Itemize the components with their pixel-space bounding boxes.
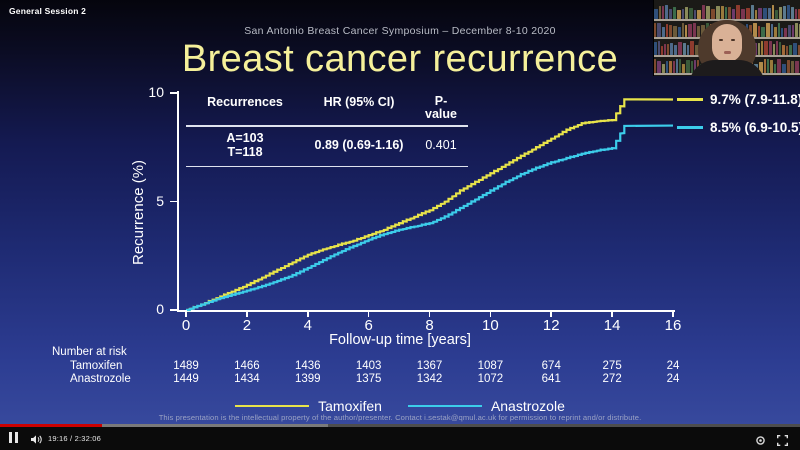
- presenter-webcam-feed[interactable]: [653, 0, 800, 76]
- y-tick-label-10: 10: [134, 84, 164, 100]
- risk-value: 275: [586, 360, 638, 372]
- book: [755, 10, 757, 19]
- risk-value: 272: [586, 373, 638, 385]
- risk-value: 24: [647, 360, 699, 372]
- risk-label-tamoxifen: Tamoxifen: [70, 360, 122, 372]
- book: [781, 28, 783, 37]
- book: [666, 61, 668, 73]
- book: [654, 42, 657, 55]
- book: [725, 7, 727, 19]
- x-tick-8: [429, 310, 431, 317]
- y-tick-label-0: 0: [134, 301, 164, 317]
- book: [683, 43, 686, 55]
- book: [682, 9, 684, 19]
- pause-icon[interactable]: [9, 432, 18, 443]
- anastrozole-legend-swatch: [408, 405, 482, 407]
- book: [795, 61, 799, 73]
- x-tick-0: [185, 310, 187, 317]
- progress-bar-track[interactable]: [0, 424, 800, 427]
- header-hazard-ratio: HR (95% CI): [304, 95, 414, 121]
- book: [768, 8, 771, 19]
- book: [679, 59, 681, 73]
- book: [766, 23, 770, 37]
- fullscreen-icon[interactable]: [777, 433, 788, 450]
- book: [774, 64, 776, 73]
- risk-value: 1072: [464, 373, 516, 385]
- book: [664, 44, 666, 55]
- risk-label-anastrozole: Anastrozole: [70, 373, 131, 385]
- book: [657, 23, 661, 37]
- book: [666, 24, 668, 37]
- book: [763, 8, 767, 19]
- copyright-footer: This presentation is the intellectual pr…: [0, 413, 800, 422]
- book-row: [654, 4, 800, 19]
- book: [791, 61, 794, 73]
- book: [795, 23, 798, 37]
- time-display: 19:16 / 2:32:06: [48, 434, 101, 443]
- risk-value: 1399: [282, 373, 334, 385]
- video-player-controls: 19:16 / 2:32:06: [0, 424, 800, 450]
- book: [688, 24, 692, 37]
- book: [716, 6, 720, 19]
- y-tick-5: [170, 201, 177, 203]
- legend-item-anastrozole: Anastrozole: [408, 398, 565, 414]
- risk-value: 1403: [343, 360, 395, 372]
- book: [669, 9, 672, 19]
- book: [658, 41, 660, 55]
- progress-bar-fill: [0, 424, 102, 427]
- x-tick-6: [368, 310, 370, 317]
- book: [778, 23, 780, 37]
- book: [758, 26, 760, 37]
- book: [764, 41, 768, 55]
- book: [677, 10, 681, 19]
- book: [791, 7, 794, 19]
- book: [685, 7, 688, 19]
- book: [667, 44, 669, 55]
- book: [792, 25, 794, 37]
- book: [758, 8, 762, 19]
- risk-table-title: Number at risk: [52, 346, 127, 358]
- volume-icon[interactable]: [30, 432, 43, 450]
- anastrozole-endpoint-label: 8.5% (6.9-10.5): [710, 120, 800, 135]
- risk-value: 1367: [404, 360, 456, 372]
- book: [685, 25, 687, 37]
- book: [789, 45, 792, 55]
- book: [673, 7, 676, 19]
- risk-value: 674: [525, 360, 577, 372]
- book: [661, 46, 663, 55]
- book: [761, 41, 763, 55]
- video-viewport: San Antonio Breast Cancer Symposium – De…: [0, 0, 800, 450]
- x-tick-14: [611, 310, 613, 317]
- book: [711, 9, 715, 19]
- book: [673, 61, 675, 73]
- presenter-eye-right: [731, 39, 735, 41]
- gear-icon[interactable]: [755, 433, 766, 450]
- book: [669, 61, 672, 73]
- book: [782, 64, 786, 73]
- tamoxifen-endpoint-annotation: 9.7% (7.9-11.8): [677, 92, 800, 107]
- book: [774, 27, 777, 37]
- book: [669, 25, 672, 37]
- book: [746, 8, 750, 19]
- presenter-mouth: [724, 51, 731, 54]
- book: [761, 27, 765, 37]
- x-tick-10: [490, 310, 492, 317]
- book: [657, 61, 661, 73]
- book: [693, 23, 696, 37]
- book: [728, 7, 731, 19]
- tamoxifen-endpoint-label: 9.7% (7.9-11.8): [710, 92, 800, 107]
- risk-value: 1342: [404, 373, 456, 385]
- risk-value: 1434: [221, 373, 273, 385]
- cell-hazard-ratio: 0.89 (0.69-1.16): [304, 138, 414, 152]
- book: [676, 59, 678, 73]
- book: [772, 5, 774, 19]
- y-tick-10: [170, 92, 177, 94]
- book: [788, 25, 791, 37]
- header-p-value: P- value: [414, 95, 468, 121]
- book: [764, 59, 766, 73]
- book: [784, 28, 787, 37]
- book: [751, 5, 754, 19]
- book: [706, 6, 710, 19]
- risk-row-tamoxifen: Tamoxifen 148914661436140313671087674275…: [0, 360, 800, 374]
- table-header-row: Recurrences HR (95% CI) P- value: [186, 95, 468, 121]
- legend-label-anastrozole: Anastrozole: [491, 398, 565, 414]
- risk-value: 1375: [343, 373, 395, 385]
- tamoxifen-line-swatch: [677, 98, 703, 101]
- risk-value: 1466: [221, 360, 273, 372]
- book: [795, 9, 797, 19]
- presenter-face: [712, 24, 742, 62]
- book: [689, 8, 693, 19]
- book: [662, 64, 665, 73]
- book: [767, 59, 769, 73]
- x-tick-4: [307, 310, 309, 317]
- risk-value: 1449: [160, 373, 212, 385]
- legend-label-tamoxifen: Tamoxifen: [318, 398, 382, 414]
- book: [793, 43, 797, 55]
- book: [662, 6, 664, 19]
- book: [686, 60, 690, 73]
- book: [770, 60, 773, 73]
- tamoxifen-legend-swatch: [235, 405, 309, 407]
- book: [783, 6, 786, 19]
- book: [782, 45, 785, 55]
- book: [732, 9, 735, 19]
- book: [777, 59, 781, 73]
- book: [687, 45, 689, 55]
- book: [694, 10, 696, 19]
- book: [682, 64, 685, 73]
- risk-value: 1436: [282, 360, 334, 372]
- book: [741, 9, 745, 19]
- header-recurrences: Recurrences: [186, 95, 304, 121]
- risk-value: 1489: [160, 360, 212, 372]
- book: [654, 59, 656, 73]
- book: [775, 10, 778, 19]
- book: [736, 5, 740, 19]
- legend-item-tamoxifen: Tamoxifen: [235, 398, 382, 414]
- risk-value: 24: [647, 373, 699, 385]
- book: [674, 45, 677, 55]
- risk-value: 1087: [464, 360, 516, 372]
- book: [786, 46, 788, 55]
- book: [682, 23, 684, 37]
- book: [678, 27, 681, 37]
- risk-value: 641: [525, 373, 577, 385]
- book: [776, 41, 778, 55]
- book: [779, 7, 782, 19]
- book: [654, 9, 658, 19]
- book: [690, 41, 694, 55]
- x-tick-12: [550, 310, 552, 317]
- book: [773, 44, 775, 55]
- book: [771, 24, 773, 37]
- cell-recurrences: A=103 T=118: [186, 131, 304, 159]
- book: [665, 5, 668, 19]
- book: [769, 41, 772, 55]
- anastrozole-endpoint-annotation: 8.5% (6.9-10.5): [677, 120, 800, 135]
- book: [779, 42, 781, 55]
- book: [654, 23, 656, 37]
- x-tick-16: [672, 310, 674, 317]
- y-tick-0: [170, 309, 177, 311]
- chart-legend: Tamoxifen Anastrozole: [0, 398, 800, 414]
- book: [670, 43, 673, 55]
- y-axis-label: Recurrence (%): [130, 160, 147, 265]
- book: [758, 43, 760, 55]
- book: [721, 6, 724, 19]
- x-tick-2: [246, 310, 248, 317]
- anastrozole-line-swatch: [677, 126, 703, 129]
- presenter-eye-left: [719, 39, 723, 41]
- book: [787, 60, 790, 73]
- book: [697, 10, 701, 19]
- book: [787, 5, 790, 19]
- book: [662, 27, 665, 37]
- risk-row-anastrozole: Anastrozole 1449143413991375134210726412…: [0, 373, 800, 387]
- book: [659, 6, 661, 19]
- cell-p-value: 0.401: [414, 138, 468, 152]
- table-rule-bottom: [186, 166, 468, 168]
- session-label: General Session 2: [9, 6, 86, 16]
- statistics-table: Recurrences HR (95% CI) P- value A=103 T…: [186, 95, 468, 167]
- presenter-avatar: [698, 20, 756, 76]
- book: [678, 42, 682, 55]
- book: [673, 26, 677, 37]
- book: [702, 5, 705, 19]
- table-row: A=103 T=118 0.89 (0.69-1.16) 0.401: [186, 127, 468, 162]
